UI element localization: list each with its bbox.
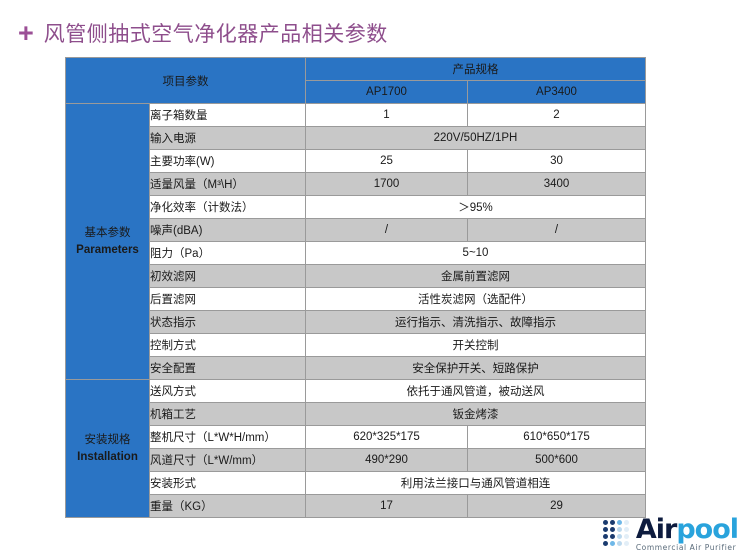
param-value-cell-merged: 开关控制 (306, 334, 646, 357)
param-value-cell-merged: 金属前置滤网 (306, 265, 646, 288)
param-value-cell-merged: 安全保护开关、短路保护 (306, 357, 646, 380)
table-row: 噪声(dBA)// (66, 219, 646, 242)
param-value-cell-merged: 5~10 (306, 242, 646, 265)
param-name-cell: 输入电源 (150, 127, 306, 150)
table-row: 安全配置安全保护开关、短路保护 (66, 357, 646, 380)
section-label-parameters: 基本参数Parameters (66, 104, 150, 380)
section-label-en: Parameters (66, 242, 149, 259)
table-row: 状态指示运行指示、清洗指示、故障指示 (66, 311, 646, 334)
param-value-cell-merged: 运行指示、清洗指示、故障指示 (306, 311, 646, 334)
param-name-cell: 离子箱数量 (150, 104, 306, 127)
param-value-cell-ap1700: 17 (306, 495, 468, 518)
header-model-ap1700: AP1700 (306, 81, 468, 104)
param-value-cell-ap3400: 29 (468, 495, 646, 518)
param-value-cell-ap1700: / (306, 219, 468, 242)
param-value-cell-merged: ＞95% (306, 196, 646, 219)
param-name-cell: 安全配置 (150, 357, 306, 380)
table-row: 输入电源220V/50HZ/1PH (66, 127, 646, 150)
param-value-cell-ap3400: 610*650*175 (468, 426, 646, 449)
param-name-cell: 控制方式 (150, 334, 306, 357)
param-value-cell-merged: 利用法兰接口与通风管道相连 (306, 472, 646, 495)
header-spec-group: 产品规格 (306, 58, 646, 81)
table-row: 后置滤网活性炭滤网（选配件） (66, 288, 646, 311)
airpool-logo: Airpool Commercial Air Purifier (603, 516, 738, 552)
param-value-cell-ap3400: / (468, 219, 646, 242)
param-value-cell-ap1700: 1700 (306, 173, 468, 196)
table-body: 基本参数Parameters离子箱数量12输入电源220V/50HZ/1PH主要… (66, 104, 646, 518)
spec-table: 项目参数 产品规格 AP1700 AP3400 基本参数Parameters离子… (65, 57, 646, 518)
table-row: 重量（KG）1729 (66, 495, 646, 518)
table-row: 主要功率(W)2530 (66, 150, 646, 173)
param-value-cell-merged: 活性炭滤网（选配件） (306, 288, 646, 311)
spec-table-container: 项目参数 产品规格 AP1700 AP3400 基本参数Parameters离子… (65, 57, 645, 518)
param-value-cell-ap3400: 2 (468, 104, 646, 127)
logo-tagline: Commercial Air Purifier (636, 544, 738, 552)
section-label-cn: 基本参数 (66, 225, 149, 242)
header-model-ap3400: AP3400 (468, 81, 646, 104)
section-label-installation: 安装规格Installation (66, 380, 150, 518)
table-row: 整机尺寸（L*W*H/mm）620*325*175610*650*175 (66, 426, 646, 449)
param-value-cell-ap1700: 1 (306, 104, 468, 127)
table-row: 初效滤网金属前置滤网 (66, 265, 646, 288)
param-value-cell-ap1700: 25 (306, 150, 468, 173)
table-row: 阻力（Pa）5~10 (66, 242, 646, 265)
page-title-text: 风管侧抽式空气净化器产品相关参数 (44, 18, 388, 48)
plus-bullet-icon: + (18, 20, 34, 47)
param-value-cell-merged: 220V/50HZ/1PH (306, 127, 646, 150)
header-row-group: 项目参数 产品规格 (66, 58, 646, 81)
param-name-cell: 状态指示 (150, 311, 306, 334)
table-row: 安装规格Installation送风方式依托于通风管道，被动送风 (66, 380, 646, 403)
param-name-cell: 重量（KG） (150, 495, 306, 518)
table-row: 适量风量（M³\H）17003400 (66, 173, 646, 196)
table-head: 项目参数 产品规格 AP1700 AP3400 (66, 58, 646, 104)
table-row: 控制方式开关控制 (66, 334, 646, 357)
logo-wordmark: Airpool (636, 516, 738, 543)
section-label-cn: 安装规格 (66, 432, 149, 449)
logo-text: Airpool Commercial Air Purifier (636, 516, 738, 552)
logo-word-pool: pool (676, 514, 738, 545)
param-name-cell: 安装形式 (150, 472, 306, 495)
param-name-cell: 后置滤网 (150, 288, 306, 311)
param-name-cell: 净化效率（计数法） (150, 196, 306, 219)
param-value-cell-merged: 钣金烤漆 (306, 403, 646, 426)
param-name-cell: 整机尺寸（L*W*H/mm） (150, 426, 306, 449)
param-name-cell: 送风方式 (150, 380, 306, 403)
param-value-cell-ap3400: 3400 (468, 173, 646, 196)
table-row: 基本参数Parameters离子箱数量12 (66, 104, 646, 127)
param-name-cell: 风道尺寸（L*W/mm） (150, 449, 306, 472)
param-name-cell: 机箱工艺 (150, 403, 306, 426)
logo-word-air: Air (636, 514, 676, 545)
table-row: 安装形式利用法兰接口与通风管道相连 (66, 472, 646, 495)
param-name-cell: 初效滤网 (150, 265, 306, 288)
table-row: 净化效率（计数法）＞95% (66, 196, 646, 219)
param-name-cell: 主要功率(W) (150, 150, 306, 173)
table-row: 风道尺寸（L*W/mm）490*290500*600 (66, 449, 646, 472)
section-label-en: Installation (66, 449, 149, 466)
table-row: 机箱工艺钣金烤漆 (66, 403, 646, 426)
param-name-cell: 适量风量（M³\H） (150, 173, 306, 196)
param-value-cell-ap3400: 30 (468, 150, 646, 173)
header-param-col: 项目参数 (66, 58, 306, 104)
logo-dot-grid-icon (603, 520, 629, 546)
param-value-cell-ap3400: 500*600 (468, 449, 646, 472)
param-value-cell-ap1700: 620*325*175 (306, 426, 468, 449)
param-name-cell: 噪声(dBA) (150, 219, 306, 242)
param-name-cell: 阻力（Pa） (150, 242, 306, 265)
page-title: + 风管侧抽式空气净化器产品相关参数 (18, 18, 388, 48)
param-value-cell-merged: 依托于通风管道，被动送风 (306, 380, 646, 403)
param-value-cell-ap1700: 490*290 (306, 449, 468, 472)
